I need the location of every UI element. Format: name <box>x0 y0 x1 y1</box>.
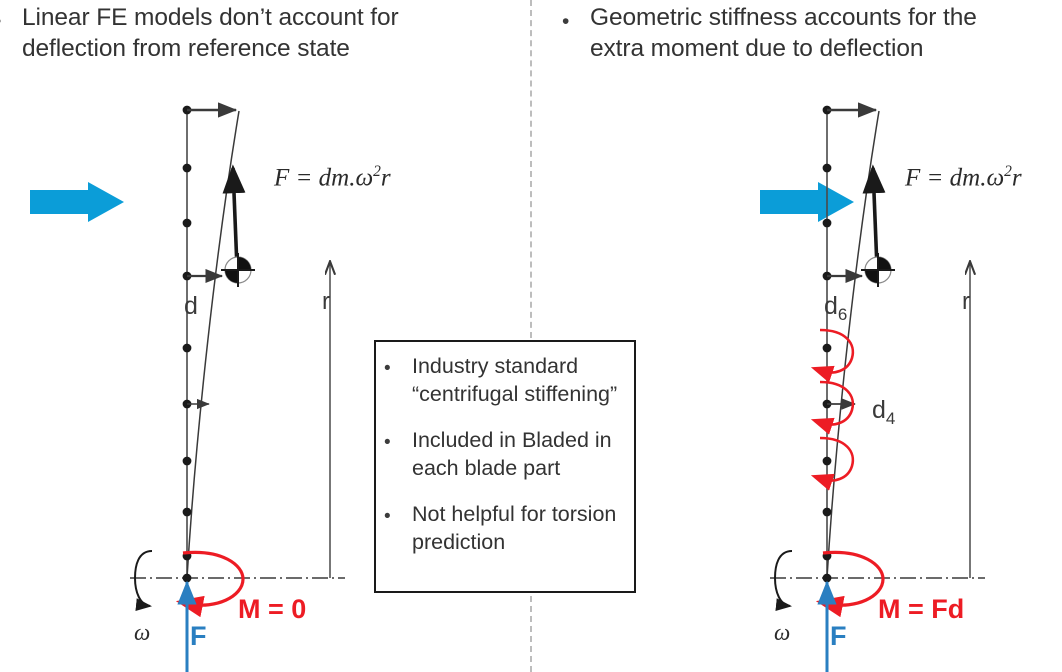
slide-canvas: • Linear FE models don’t account for def… <box>0 0 1062 672</box>
radius-label-left: r <box>322 288 330 316</box>
root-moment-label-right: M = Fd <box>878 594 964 625</box>
node-point <box>823 574 832 583</box>
node-point <box>823 219 832 228</box>
centrifugal-force-formula-right: F = dm.ω2r <box>905 163 1022 192</box>
deflection-label-d6-sub: 6 <box>838 305 847 324</box>
formula-exponent: 2 <box>1004 163 1012 180</box>
deflection-label-left: d <box>184 292 198 321</box>
info-box-item: • Industry standard “centrifugal stiffen… <box>384 352 624 408</box>
bullet-icon: • <box>384 433 412 452</box>
deflected-blade-right <box>827 111 879 578</box>
centrifugal-force-formula-left: F = dm.ω2r <box>274 163 391 192</box>
moment-arrow-root-right <box>823 552 883 605</box>
node-point <box>823 508 832 517</box>
omega-label-right: ω <box>774 620 790 646</box>
deflection-label-d4: d4 <box>872 396 895 429</box>
node-point <box>823 164 832 173</box>
radius-label-right: r <box>962 288 970 316</box>
formula-rhs: r <box>1012 164 1022 191</box>
centrifugal-force-arrow-right <box>873 168 877 268</box>
root-force-label-left: F <box>190 621 207 652</box>
info-box-item: • Included in Bladed in each blade part <box>384 426 624 482</box>
info-box-item: • Not helpful for torsion prediction <box>384 500 624 556</box>
deflection-label-d6-base: d <box>824 292 838 320</box>
center-of-mass-icon <box>861 253 895 287</box>
deflection-label-d6: d6 <box>824 292 847 325</box>
node-point <box>823 344 832 353</box>
info-box-item-text: Included in Bladed in each blade part <box>412 426 612 482</box>
info-box: • Industry standard “centrifugal stiffen… <box>374 340 636 593</box>
info-box-item-text: Not helpful for torsion prediction <box>412 500 616 556</box>
omega-label-left: ω <box>134 620 150 646</box>
info-box-item-text: Industry standard “centrifugal stiffenin… <box>412 352 617 408</box>
root-force-label-right: F <box>830 621 847 652</box>
bullet-icon: • <box>384 359 412 378</box>
deflection-label-d4-base: d <box>872 396 886 424</box>
formula-exponent: 2 <box>373 163 381 180</box>
deflection-label-d4-sub: 4 <box>886 409 895 428</box>
node-point <box>823 457 832 466</box>
formula-rhs: r <box>381 164 391 191</box>
formula-lhs: F = dm.ω <box>905 164 1004 191</box>
bullet-icon: • <box>384 507 412 526</box>
root-moment-label-left: M = 0 <box>238 594 306 625</box>
formula-lhs: F = dm.ω <box>274 164 373 191</box>
